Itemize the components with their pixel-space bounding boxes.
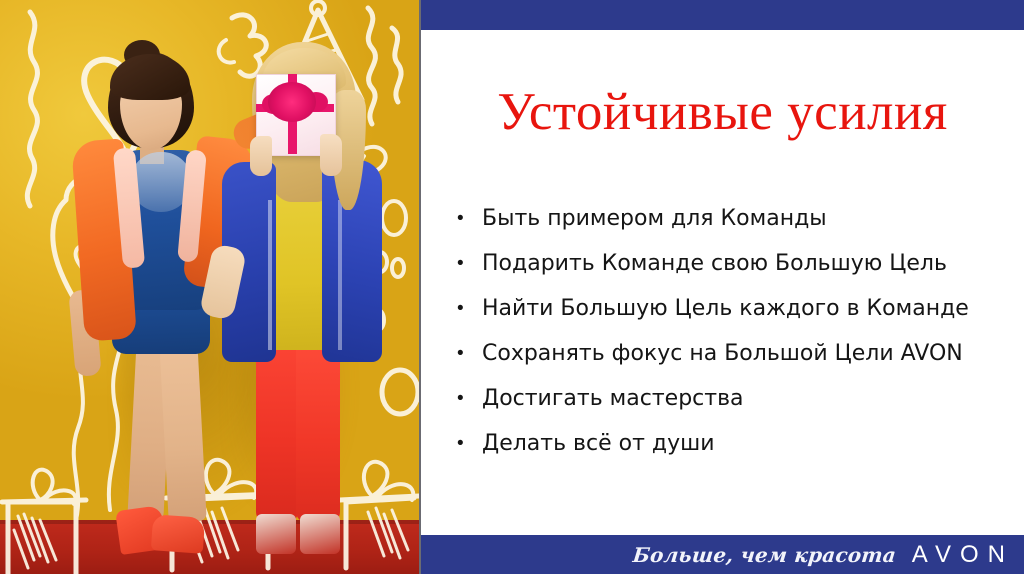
bullet-icon: • [457,421,482,466]
model-right-shoe-left [256,514,296,554]
bullet-list: • Быть примером для Команды • Подарить К… [457,196,1017,466]
presentation-slide: Устойчивые усилия • Быть примером для Ко… [0,0,1024,574]
list-item: • Делать всё от души [457,421,1017,466]
model-left-shoe-right [151,514,205,554]
list-item-label: Быть примером для Команды [482,196,827,241]
list-item-label: Делать всё от души [482,421,715,466]
list-item-label: Достигать мастерства [482,376,744,421]
gift-bow [268,82,316,122]
bullet-icon: • [457,286,482,331]
footer-bar: Больше, чем красота AVON [419,535,1024,574]
list-item: • Быть примером для Команды [457,196,1017,241]
model-right-pant-leg-left [256,344,298,522]
top-accent-bar [421,0,1024,30]
bullet-icon: • [457,196,482,241]
page-title: Устойчивые усилия [421,82,1024,142]
photo-red-floor [0,520,419,574]
list-item-label: Подарить Команде свою Большую Цель [482,241,947,286]
model-right-hand-right [320,134,342,176]
list-item-label: Сохранять фокус на Большой Цели AVON [482,331,963,376]
model-right-hand-left [250,136,272,176]
slide-photo [0,0,419,574]
model-right-pant-leg-right [296,344,340,522]
content-panel: Устойчивые усилия • Быть примером для Ко… [421,0,1024,574]
photo-content-divider [419,0,421,574]
model-right-shoe-right [300,514,340,554]
list-item-label: Найти Большую Цель каждого в Команде [482,286,969,331]
list-item: • Подарить Команде свою Большую Цель [457,241,1017,286]
bullet-icon: • [457,241,482,286]
avon-logo: AVON [912,541,1016,569]
list-item: • Найти Большую Цель каждого в Команде [457,286,1017,331]
list-item: • Достигать мастерства [457,376,1017,421]
brand-tagline: Больше, чем красота [632,543,898,567]
bullet-icon: • [457,376,482,421]
bullet-icon: • [457,331,482,376]
model-right-jacket-zipper-left [268,200,272,350]
model-right-jacket-zipper-right [338,200,342,350]
list-item: • Сохранять фокус на Большой Цели AVON [457,331,1017,376]
